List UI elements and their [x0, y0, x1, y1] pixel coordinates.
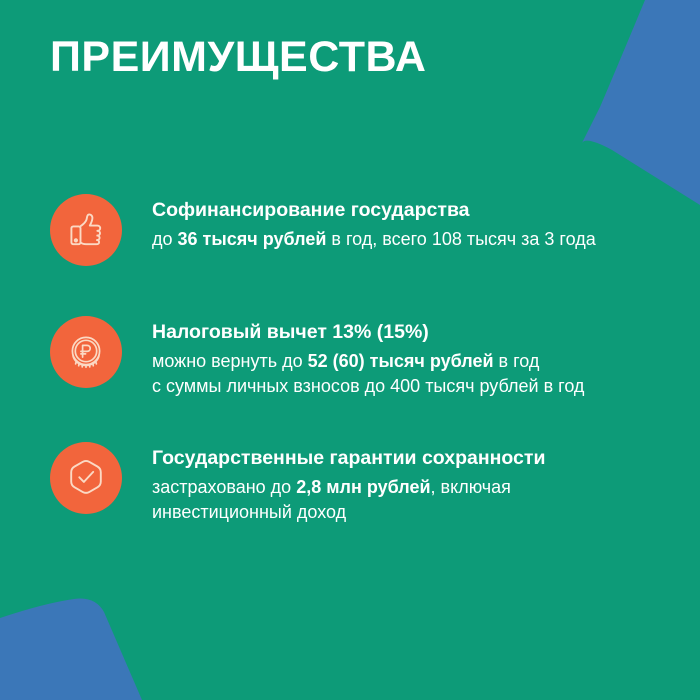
benefit-line: застраховано до 2,8 млн рублей, включая: [152, 475, 650, 501]
plain-text: , включая: [431, 477, 511, 497]
benefit-heading: Налоговый вычет 13% (15%): [152, 320, 650, 346]
plain-text: в год: [494, 351, 540, 371]
benefit-icon-badge: [50, 194, 122, 266]
benefit-line: инвестиционный доход: [152, 500, 650, 526]
benefit-text: Налоговый вычет 13% (15%) можно вернуть …: [122, 314, 650, 400]
plain-text: инвестиционный доход: [152, 502, 346, 522]
plain-text: до: [152, 229, 178, 249]
bottom-left-accent-shape: [0, 599, 142, 700]
plain-text: с суммы личных взносов до 400 тысяч рубл…: [152, 376, 584, 396]
benefit-line: с суммы личных взносов до 400 тысяч рубл…: [152, 374, 650, 400]
benefit-item: Софинансирование государства до 36 тысяч…: [50, 192, 650, 266]
benefit-heading: Государственные гарантии сохранности: [152, 446, 650, 472]
benefits-list: Софинансирование государства до 36 тысяч…: [50, 192, 650, 526]
benefit-line: до 36 тысяч рублей в год, всего 108 тыся…: [152, 227, 650, 253]
emphasis-text: 52 (60) тысяч рублей: [308, 351, 494, 371]
page-title: ПРЕИМУЩЕСТВА: [50, 33, 426, 81]
plain-text: в год, всего 108 тысяч за 3 года: [326, 229, 595, 249]
benefit-text: Государственные гарантии сохранности зас…: [122, 440, 650, 526]
emphasis-text: 2,8 млн рублей: [296, 477, 430, 497]
top-right-accent-shape: [582, 0, 700, 205]
plain-text: можно вернуть до: [152, 351, 308, 371]
benefit-icon-badge: [50, 316, 122, 388]
benefit-text: Софинансирование государства до 36 тысяч…: [122, 192, 650, 252]
benefit-heading: Софинансирование государства: [152, 198, 650, 224]
plain-text: застраховано до: [152, 477, 296, 497]
ruble-coin-icon: [64, 330, 108, 374]
emphasis-text: 36 тысяч рублей: [178, 229, 327, 249]
hexagon-check-icon: [64, 456, 108, 500]
thumbs-up-icon: [64, 208, 108, 252]
benefit-icon-badge: [50, 442, 122, 514]
benefit-line: можно вернуть до 52 (60) тысяч рублей в …: [152, 349, 650, 375]
benefit-item: Государственные гарантии сохранности зас…: [50, 440, 650, 526]
infographic-slide: ПРЕИМУЩЕСТВА Софинансирование госуд: [0, 0, 700, 700]
benefit-item: Налоговый вычет 13% (15%) можно вернуть …: [50, 314, 650, 400]
